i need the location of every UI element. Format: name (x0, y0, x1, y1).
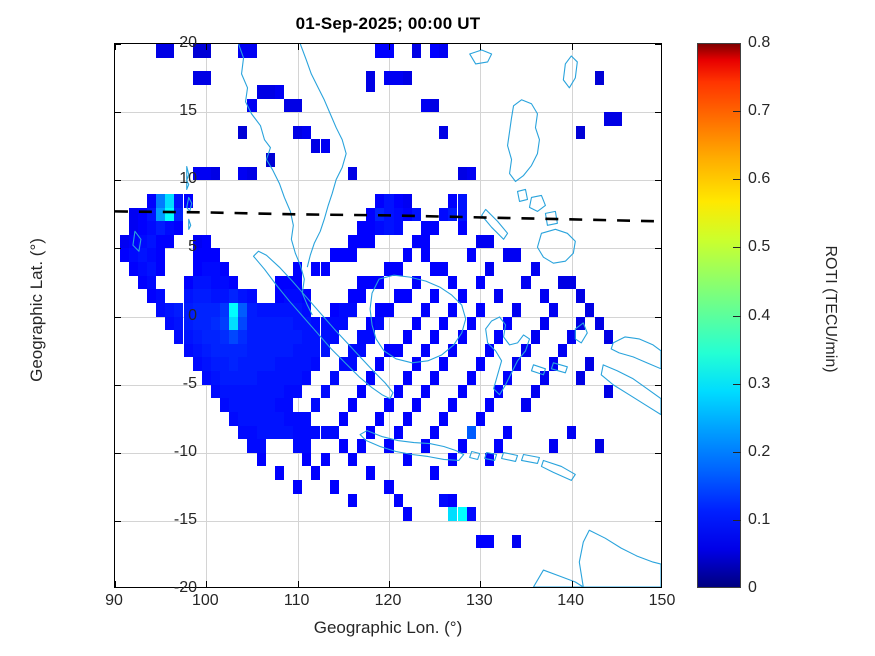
x-tick (480, 581, 481, 587)
y-tick (115, 521, 121, 522)
figure-title: 01-Sep-2025; 00:00 UT (114, 14, 662, 34)
roti-map-figure: 01-Sep-2025; 00:00 UT (0, 0, 875, 656)
colorbar-tick-label: 0.7 (748, 102, 770, 120)
y-axis-label: Geographic Lat. (°) (27, 210, 47, 410)
x-tick (389, 581, 390, 587)
y-tick-right (655, 317, 661, 318)
x-tick-label: 120 (375, 592, 402, 610)
colorbar-tick-label: 0.6 (748, 170, 770, 188)
x-tick-top (298, 44, 299, 50)
colorbar-tick-label: 0 (748, 579, 757, 597)
x-tick (572, 581, 573, 587)
y-tick-label: 5 (188, 238, 197, 256)
y-tick-label: -10 (174, 443, 197, 461)
y-tick (115, 44, 121, 45)
y-tick-label: -20 (174, 579, 197, 597)
x-tick-top (206, 44, 207, 50)
colorbar-tick (733, 247, 741, 248)
x-tick-label: 110 (284, 592, 310, 610)
y-tick-label: 0 (188, 307, 197, 325)
x-tick-label: 140 (557, 592, 584, 610)
x-tick (115, 581, 116, 587)
y-tick (115, 317, 121, 318)
colorbar-tick-label: 0.4 (748, 307, 770, 325)
x-tick-label: 150 (649, 592, 676, 610)
y-tick-right (655, 248, 661, 249)
colorbar-tick-label: 0.2 (748, 443, 770, 461)
colorbar-tick-label: 0.5 (748, 238, 770, 256)
x-tick-top (480, 44, 481, 50)
colorbar-tick-label: 0.1 (748, 511, 770, 529)
x-tick-top (389, 44, 390, 50)
y-tick-label: 15 (179, 102, 197, 120)
y-tick-right (655, 453, 661, 454)
y-tick-label: 20 (179, 34, 197, 52)
y-tick-right (655, 385, 661, 386)
colorbar-tick (733, 384, 741, 385)
colorbar-label: ROTI (TECU/min) (821, 179, 839, 439)
colorbar-tick (733, 111, 741, 112)
y-tick-right (655, 180, 661, 181)
y-tick-right (655, 521, 661, 522)
y-tick-right (655, 112, 661, 113)
x-tick-label: 130 (466, 592, 493, 610)
y-tick-label: -5 (183, 375, 197, 393)
y-tick (115, 180, 121, 181)
colorbar-tick-label: 0.8 (748, 34, 770, 52)
y-tick (115, 385, 121, 386)
y-tick-label: 10 (179, 170, 197, 188)
x-tick (206, 581, 207, 587)
colorbar-tick (733, 452, 741, 453)
y-tick (115, 248, 121, 249)
y-tick-label: -15 (174, 511, 197, 529)
colorbar-tick (733, 520, 741, 521)
x-tick (298, 581, 299, 587)
x-tick-label: 90 (105, 592, 123, 610)
y-tick-right (655, 44, 661, 45)
y-tick (115, 453, 121, 454)
colorbar-tick-label: 0.3 (748, 375, 770, 393)
x-tick-top (572, 44, 573, 50)
x-axis-label: Geographic Lon. (°) (114, 618, 662, 638)
colorbar-tick (733, 316, 741, 317)
colorbar-tick (733, 179, 741, 180)
y-tick (115, 112, 121, 113)
